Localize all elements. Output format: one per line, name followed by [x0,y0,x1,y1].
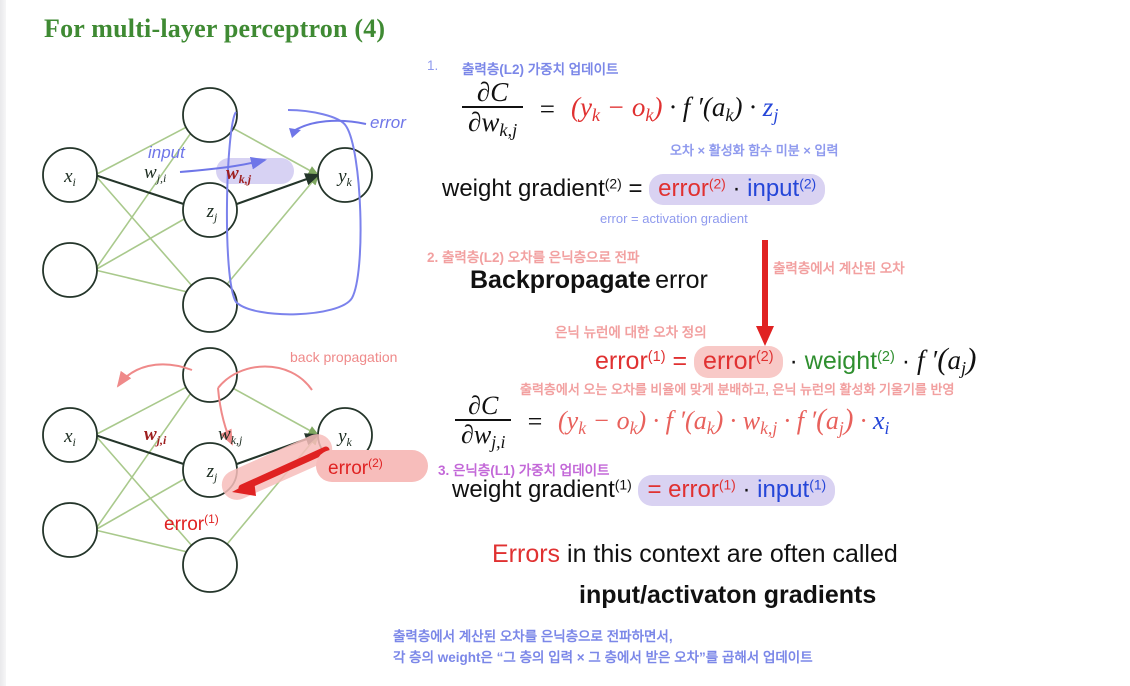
chain-rule-equation: ∂C ∂wj,i = (yk − ok) · f ′(ak) · wk,j · … [455,392,889,452]
annotation-error-text: error [370,113,407,132]
wg1-equals: = [647,476,661,503]
backpropagate-title: Backpropagate error [470,266,708,295]
step2-heading: 2. 출력층(L2) 오차를 은닉층으로 전파 [427,246,639,266]
weight-gradient-2-eq: = [628,175,642,202]
weight-gradient-2-line: weight gradient(2) = error(2) · input(2) [442,175,825,203]
chain-rhs: (yk − ok) · f ′(ak) · wk,j · f ′(aj) · x… [558,404,889,439]
backward-pass-network-diagram: xi zj yk wj,i wk,j back propagation erro… [40,340,440,610]
summary-errors-word: Errors [492,540,560,568]
error-1-token: error(1) [668,476,736,503]
input-1-token: input(1) [757,476,826,503]
backprop-caption: back propagation [290,349,397,365]
error1-definition-equation: error(1) = error(2) · weight(2) · f ′(aj… [595,341,976,379]
backprop-curve-2 [118,364,192,386]
error-arrowhead [289,128,301,138]
step1-caption: 오차 × 활성화 함수 미분 × 입력 [670,140,838,159]
footer-line-2: 각 층의 weight은 “그 층의 입력 × 그 층에서 받은 오차”를 곱해… [393,648,813,669]
frac-numerator: ∂C [462,78,523,106]
weight-gradient-1-rhs-highlight: = error(1) · input(1) [638,475,835,506]
weight2-token: weight(2) [805,347,895,375]
page-title: For multi-layer perceptron (4) [44,14,385,44]
weight-gradient-1-lhs: weight gradient(1) [452,476,632,503]
dot-2: · [749,92,763,122]
step2-sub-heading: 은닉 뉴런에 대한 오차 정의 [555,321,707,341]
weight-label-wji: wj,i [144,162,166,185]
frac-denominator: ∂wk,j [462,106,523,140]
dot-sep-3: · [895,347,917,375]
weight-gradient-2-rhs-highlight: error(2) · input(2) [649,174,825,205]
forward-pass-network-diagram: xi zj yk wj,i wk,j input error [40,80,440,340]
footer-line-1: 출력층에서 계산된 오차를 은닉층으로 전파하면서, [393,627,813,648]
error-2-token: error(2) [658,175,726,202]
chain-frac-den: ∂wj,i [455,419,511,452]
chain-fprime-ak: f ′(ak) [666,406,724,435]
backpropagate-word: Backpropagate [470,266,651,294]
step1-rhs: (yk − ok) · f ′(ak) · zj [571,92,778,126]
summary-rest: in this context are often called [560,540,898,568]
backprop-down-arrow [755,240,781,355]
error1-lhs: error(1) [595,347,666,375]
step2-side-note: 출력층에서 계산된 오차 [773,257,905,277]
weight-gradient-1-line: weight gradient(1) = error(1) · input(1) [452,476,835,504]
chain-frac: ∂C ∂wj,i [455,392,511,452]
weight-gradient-2-note: error = activation gradient [600,211,748,226]
weight-label-wji-back: wj,i [144,424,167,447]
chain-dot-1: · [653,406,666,435]
chain-frac-num: ∂C [455,392,511,419]
slide-canvas: For multi-layer perceptron (4) [0,0,1130,686]
error1-equals: = [672,347,687,375]
chain-equals: = [518,407,552,437]
step1-heading: 출력층(L2) 가중치 업데이트 [462,58,618,78]
chain-error-term: (yk − ok) [558,406,646,435]
dot-sep-1: · [726,175,747,202]
summary-line-2: input/activaton gradients [579,581,876,610]
left-edge-strip [0,0,6,686]
annotation-input-text: input [148,143,186,162]
error-term: (yk − ok) [571,92,663,122]
summary-line-1: Errors in this context are often called [492,540,898,569]
chain-wkj: wk,j [743,406,778,435]
weight-gradient-2-lhs: weight gradient(2) [442,175,622,202]
dot-sep-4: · [736,476,757,503]
dot-sep-2: · [783,347,805,375]
error2-highlight-token: error(2) [694,346,783,378]
chain-xi: xi [873,406,889,435]
dot-1: · [669,92,683,122]
error1-label: error(1) [164,512,219,535]
fprime-aj-token: f ′(aj) [917,345,976,375]
step1-equation: ∂C ∂wk,j = (yk − ok) · f ′(ak) · zj [462,78,778,141]
blue-loop-annotation [227,110,361,314]
input-2-token: input(2) [747,175,816,202]
chain-dot-2: · [730,406,743,435]
error-word: error [655,266,708,294]
chain-dot-3: · [784,406,797,435]
partial-derivative-fraction: ∂C ∂wk,j [462,78,523,141]
footer-note: 출력층에서 계산된 오차를 은닉층으로 전파하면서, 각 층의 weight은 … [393,627,813,669]
step1-number: 1. [427,58,438,73]
error-arrow-annotation [292,121,366,132]
weight-label-wkj-back: wk,j [218,424,243,447]
zj-term: zj [763,92,779,122]
chain-dot-4: · [860,406,873,435]
chain-fprime-aj: f ′(aj) [797,406,854,435]
equals-sign: = [530,94,564,125]
fprime-ak: f ′(ak) [683,92,743,122]
